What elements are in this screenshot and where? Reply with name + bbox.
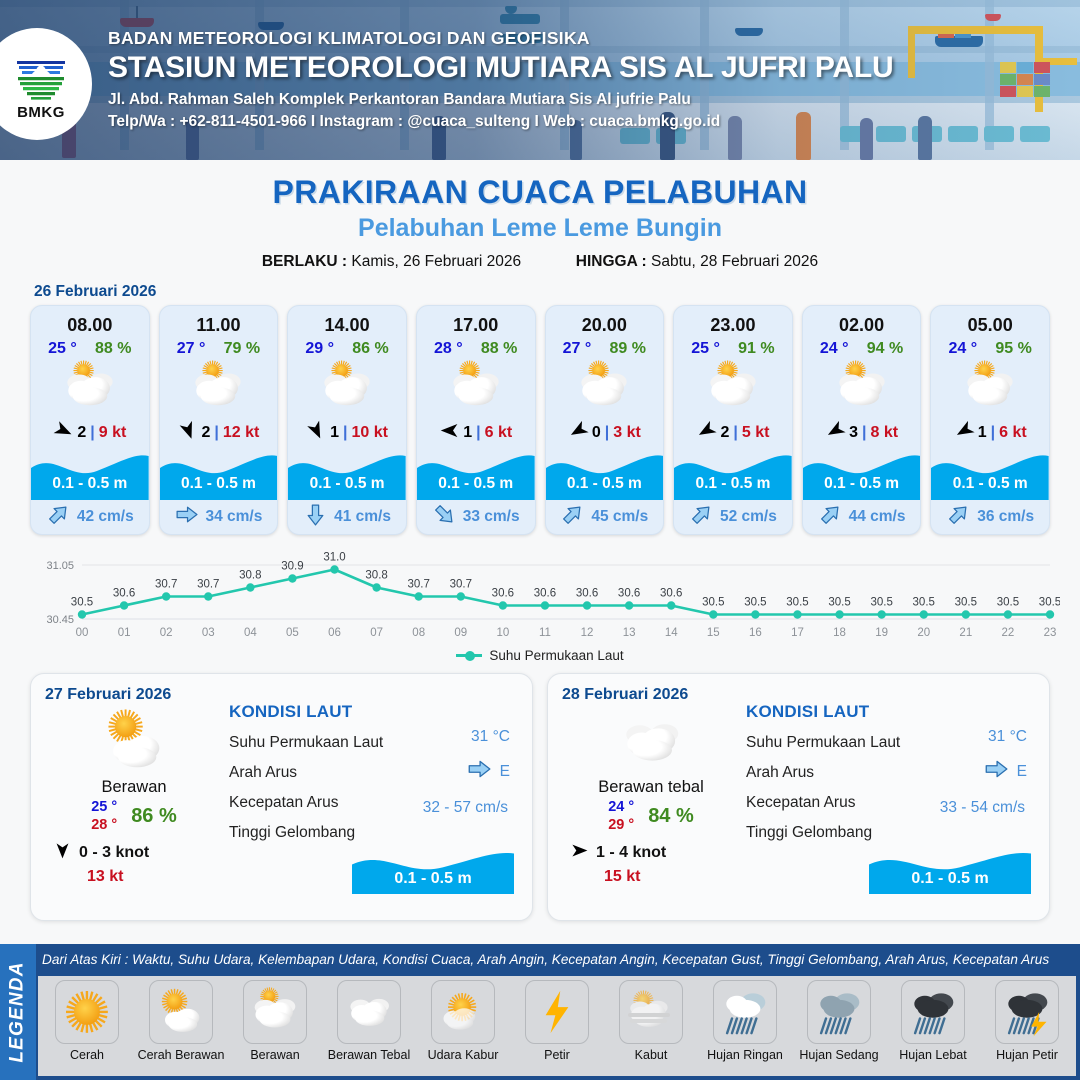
legenda-bar: LEGENDA Dari Atas Kiri : Waktu, Suhu Uda… — [0, 944, 1080, 1080]
daily-date: 27 Februari 2026 — [45, 686, 223, 704]
card-wind: 2 | 12 kt — [160, 416, 278, 450]
card-wind-speed: 9 kt — [99, 424, 127, 442]
svg-text:30.5: 30.5 — [913, 597, 935, 609]
legenda-item: Cerah Berawan — [136, 980, 226, 1062]
card-wave: 0.1 - 0.5 m — [546, 450, 664, 500]
card-wind-speed: 8 kt — [870, 424, 898, 442]
daily-left: 27 Februari 2026 Berawan 25 ° 28 ° — [45, 686, 223, 908]
card-wind-direction: 2 — [77, 424, 86, 442]
current-direction-value: E — [466, 756, 510, 787]
legenda-item: Kabut — [606, 980, 696, 1062]
card-current: 52 cm/s — [674, 500, 792, 534]
svg-text:08: 08 — [412, 627, 425, 639]
svg-text:12: 12 — [581, 627, 594, 639]
station-address: Jl. Abd. Rahman Saleh Komplek Perkantora… — [108, 91, 893, 109]
daily-condition: Berawan tebal — [562, 778, 740, 797]
cerah-berawan-icon — [149, 980, 213, 1044]
card-temp-hum: 24 ° 95 % — [931, 336, 1049, 358]
current-direction-icon — [689, 502, 714, 532]
card-wind: 2 | 5 kt — [674, 416, 792, 450]
svg-text:30.6: 30.6 — [113, 588, 135, 600]
card-current: 44 cm/s — [803, 500, 921, 534]
current-direction-value: E — [983, 756, 1027, 787]
agency-name: BADAN METEOROLOGI KLIMATOLOGI DAN GEOFIS… — [108, 28, 893, 49]
card-temperature: 24 ° — [820, 340, 849, 358]
svg-text:30.8: 30.8 — [365, 570, 387, 582]
daily-humidity: 86 % — [131, 805, 177, 828]
hourly-forecast-row: 08.00 25 ° 88 % 2 | 9 — [0, 305, 1080, 535]
card-temp-hum: 24 ° 94 % — [803, 336, 921, 358]
wind-separator: | — [214, 424, 218, 442]
svg-text:13: 13 — [623, 627, 636, 639]
card-temp-hum: 27 ° 79 % — [160, 336, 278, 358]
current-direction-icon — [560, 502, 585, 532]
sst-chart: 31.0530.4530.50030.60130.70230.70330.804… — [20, 547, 1060, 665]
legenda-item: Udara Kabur — [418, 980, 508, 1062]
svg-text:11: 11 — [539, 627, 551, 639]
legenda-item-label: Cerah — [70, 1048, 104, 1062]
bmkg-logo-text: BMKG — [17, 104, 65, 121]
card-humidity: 79 % — [224, 340, 260, 358]
svg-text:00: 00 — [76, 627, 89, 639]
svg-text:15: 15 — [707, 627, 720, 639]
wind-separator: | — [733, 424, 737, 442]
wind-separator: | — [343, 424, 347, 442]
current-direction-icon — [818, 502, 843, 532]
hourly-card: 11.00 27 ° 79 % 2 | 1 — [159, 305, 279, 535]
legenda-item: Petir — [512, 980, 602, 1062]
card-wind: 1 | 6 kt — [417, 416, 535, 450]
daily-gust: 13 kt — [45, 868, 223, 886]
wind-direction-icon — [825, 420, 846, 446]
daily-sea-conditions: KONDISI LAUT Suhu Permukaan Laut Arah Ar… — [223, 686, 518, 908]
hujan-lebat-icon — [901, 980, 965, 1044]
current-speed-value: 33 - 54 cm/s — [940, 799, 1025, 817]
card-wave-height: 0.1 - 0.5 m — [546, 475, 664, 493]
card-current-speed: 52 cm/s — [720, 508, 777, 526]
svg-text:31.0: 31.0 — [323, 552, 345, 564]
wind-direction-icon — [570, 841, 589, 865]
wind-separator: | — [90, 424, 94, 442]
svg-text:30.6: 30.6 — [576, 588, 598, 600]
card-wind-direction: 2 — [720, 424, 729, 442]
card-wind-speed: 5 kt — [742, 424, 770, 442]
daily-temps: 24 ° 29 ° — [608, 799, 634, 833]
legenda-item: Hujan Lebat — [888, 980, 978, 1062]
card-temperature: 25 ° — [691, 340, 720, 358]
card-current: 33 cm/s — [417, 500, 535, 534]
wind-direction-icon — [568, 420, 589, 446]
berawan-icon — [546, 360, 664, 416]
card-wind-direction: 1 — [978, 424, 987, 442]
daily-left: 28 Februari 2026 Berawan tebal 24 ° 29 °… — [562, 686, 740, 908]
card-wind: 0 | 3 kt — [546, 416, 664, 450]
page-subtitle: Pelabuhan Leme Leme Bungin — [0, 214, 1080, 243]
chart-legend: Suhu Permukaan Laut — [20, 648, 1060, 663]
card-time: 23.00 — [674, 306, 792, 336]
svg-text:30.5: 30.5 — [702, 597, 724, 609]
wind-direction-icon — [53, 841, 72, 865]
legenda-item-label: Petir — [544, 1048, 570, 1062]
page-title: PRAKIRAAN CUACA PELABUHAN — [0, 174, 1080, 211]
svg-text:30.6: 30.6 — [660, 588, 682, 600]
card-humidity: 94 % — [867, 340, 903, 358]
legenda-icon-strip: Cerah Cerah Berawan — [38, 976, 1076, 1076]
legenda-item: Hujan Ringan — [700, 980, 790, 1062]
berlaku-value: Kamis, 26 Februari 2026 — [351, 253, 521, 270]
card-wind-direction: 3 — [849, 424, 858, 442]
card-temperature: 28 ° — [434, 340, 463, 358]
card-wind-speed: 10 kt — [352, 424, 388, 442]
card-wind: 3 | 8 kt — [803, 416, 921, 450]
daily-forecast-card: 28 Februari 2026 Berawan tebal 24 ° 29 °… — [547, 673, 1050, 921]
card-wind-direction: 0 — [592, 424, 601, 442]
svg-text:19: 19 — [875, 627, 888, 639]
card-time: 05.00 — [931, 306, 1049, 336]
daily-temp-min: 25 ° — [91, 799, 117, 815]
wind-direction-icon — [306, 420, 327, 446]
legenda-item-label: Kabut — [635, 1048, 668, 1062]
svg-text:30.7: 30.7 — [408, 579, 430, 591]
svg-text:04: 04 — [244, 627, 257, 639]
legenda-item: Berawan Tebal — [324, 980, 414, 1062]
card-wave: 0.1 - 0.5 m — [803, 450, 921, 500]
daily-date: 28 Februari 2026 — [562, 686, 740, 704]
svg-text:30.6: 30.6 — [492, 588, 514, 600]
svg-text:30.6: 30.6 — [618, 588, 640, 600]
svg-text:30.5: 30.5 — [828, 597, 850, 609]
card-wind-speed: 12 kt — [223, 424, 259, 442]
sst-value: 31 °C — [471, 728, 510, 746]
card-wind-speed: 3 kt — [613, 424, 641, 442]
card-temp-hum: 28 ° 88 % — [417, 336, 535, 358]
wind-direction-icon — [954, 420, 975, 446]
berawan-tebal-icon — [562, 708, 740, 774]
current-direction-icon — [983, 756, 1009, 787]
daily-temp-hum: 24 ° 29 ° 84 % — [562, 799, 740, 833]
daily-temp-hum: 25 ° 28 ° 86 % — [45, 799, 223, 833]
card-current: 41 cm/s — [288, 500, 406, 534]
svg-text:30.5: 30.5 — [71, 597, 93, 609]
daily-temps: 25 ° 28 ° — [91, 799, 117, 833]
berlaku-label: BERLAKU : — [262, 253, 347, 270]
svg-text:02: 02 — [160, 627, 173, 639]
card-current-speed: 42 cm/s — [77, 508, 134, 526]
chart-legend-marker — [456, 654, 482, 657]
svg-text:30.45: 30.45 — [46, 614, 74, 626]
card-current-speed: 41 cm/s — [334, 508, 391, 526]
card-wave-height: 0.1 - 0.5 m — [674, 475, 792, 493]
card-current: 36 cm/s — [931, 500, 1049, 534]
svg-text:06: 06 — [328, 627, 341, 639]
page-header: BMKG BADAN METEOROLOGI KLIMATOLOGI DAN G… — [0, 0, 1080, 160]
legenda-item: Hujan Sedang — [794, 980, 884, 1062]
card-humidity: 95 % — [995, 340, 1031, 358]
card-temp-hum: 25 ° 88 % — [31, 336, 149, 358]
card-temp-hum: 25 ° 91 % — [674, 336, 792, 358]
svg-text:21: 21 — [959, 627, 972, 639]
hourly-card: 14.00 29 ° 86 % 1 | 1 — [287, 305, 407, 535]
daily-temp-max: 29 ° — [608, 817, 634, 833]
wind-direction-icon — [439, 420, 460, 446]
card-temp-hum: 29 ° 86 % — [288, 336, 406, 358]
hourly-card: 20.00 27 ° 89 % 0 | 3 — [545, 305, 665, 535]
wind-separator: | — [605, 424, 609, 442]
card-wave: 0.1 - 0.5 m — [931, 450, 1049, 500]
legenda-side-label: LEGENDA — [0, 944, 36, 1080]
sea-conditions-title: KONDISI LAUT — [746, 702, 1035, 722]
card-humidity: 89 % — [610, 340, 646, 358]
svg-text:23: 23 — [1044, 627, 1057, 639]
kabut-icon — [619, 980, 683, 1044]
card-wave: 0.1 - 0.5 m — [160, 450, 278, 500]
card-wave-height: 0.1 - 0.5 m — [288, 475, 406, 493]
card-wave: 0.1 - 0.5 m — [288, 450, 406, 500]
current-speed-value: 32 - 57 cm/s — [423, 799, 508, 817]
wave-height-label: Tinggi Gelombang — [746, 824, 1035, 842]
svg-text:20: 20 — [917, 627, 930, 639]
udara-kabur-icon — [431, 980, 495, 1044]
hujan-petir-icon — [995, 980, 1059, 1044]
wind-direction-icon — [696, 420, 717, 446]
sst-chart-svg: 31.0530.4530.50030.60130.70230.70330.804… — [20, 547, 1060, 647]
svg-text:30.5: 30.5 — [870, 597, 892, 609]
legenda-item-label: Berawan Tebal — [328, 1048, 410, 1062]
current-direction-icon — [303, 502, 328, 532]
berawan-icon — [417, 360, 535, 416]
daily-temp-min: 24 ° — [608, 799, 634, 815]
card-wave: 0.1 - 0.5 m — [674, 450, 792, 500]
bmkg-logo-mark — [13, 47, 69, 103]
daily-wave-value: 0.1 - 0.5 m — [352, 870, 514, 888]
svg-text:01: 01 — [118, 627, 131, 639]
svg-text:03: 03 — [202, 627, 215, 639]
svg-text:30.5: 30.5 — [955, 597, 977, 609]
legenda-item: Hujan Petir — [982, 980, 1072, 1062]
sea-conditions-title: KONDISI LAUT — [229, 702, 518, 722]
svg-text:22: 22 — [1002, 627, 1015, 639]
hourly-card: 23.00 25 ° 91 % 2 | 5 — [673, 305, 793, 535]
svg-text:30.8: 30.8 — [239, 570, 261, 582]
berawan-icon — [803, 360, 921, 416]
title-block: PRAKIRAAN CUACA PELABUHAN Pelabuhan Leme… — [0, 174, 1080, 271]
card-current: 34 cm/s — [160, 500, 278, 534]
card-time: 02.00 — [803, 306, 921, 336]
svg-text:30.5: 30.5 — [744, 597, 766, 609]
hourly-card: 08.00 25 ° 88 % 2 | 9 — [30, 305, 150, 535]
wind-separator: | — [476, 424, 480, 442]
berawan-icon — [674, 360, 792, 416]
legenda-caption: Dari Atas Kiri : Waktu, Suhu Udara, Kele… — [42, 952, 1072, 967]
cerah-berawan-icon — [45, 708, 223, 774]
card-current-speed: 36 cm/s — [977, 508, 1034, 526]
wind-separator: | — [991, 424, 995, 442]
berawan-icon — [243, 980, 307, 1044]
card-current-speed: 44 cm/s — [849, 508, 906, 526]
daily-wind: 0 - 3 knot — [45, 841, 223, 865]
card-current-speed: 34 cm/s — [205, 508, 262, 526]
wind-direction-icon — [178, 420, 199, 446]
card-wave: 0.1 - 0.5 m — [417, 450, 535, 500]
card-current-speed: 33 cm/s — [463, 508, 520, 526]
card-temperature: 24 ° — [949, 340, 978, 358]
hourly-card: 05.00 24 ° 95 % 1 | 6 — [930, 305, 1050, 535]
card-wave: 0.1 - 0.5 m — [31, 450, 149, 500]
card-temperature: 29 ° — [305, 340, 334, 358]
current-direction-icon — [46, 502, 71, 532]
card-temp-hum: 27 ° 89 % — [546, 336, 664, 358]
card-time: 14.00 — [288, 306, 406, 336]
berawan-icon — [160, 360, 278, 416]
card-wind: 1 | 10 kt — [288, 416, 406, 450]
card-time: 17.00 — [417, 306, 535, 336]
card-humidity: 88 % — [481, 340, 517, 358]
daily-wind: 1 - 4 knot — [562, 841, 740, 865]
card-wind-direction: 1 — [330, 424, 339, 442]
card-wind: 1 | 6 kt — [931, 416, 1049, 450]
daily-condition: Berawan — [45, 778, 223, 797]
hujan-sedang-icon — [807, 980, 871, 1044]
current-direction-icon — [432, 502, 457, 532]
card-wave-height: 0.1 - 0.5 m — [417, 475, 535, 493]
station-name: STASIUN METEOROLOGI MUTIARA SIS AL JUFRI… — [108, 51, 893, 85]
daily-wind-range: 0 - 3 knot — [79, 844, 149, 862]
card-wave-height: 0.1 - 0.5 m — [931, 475, 1049, 493]
svg-text:18: 18 — [833, 627, 846, 639]
svg-text:30.9: 30.9 — [281, 561, 303, 573]
svg-text:05: 05 — [286, 627, 299, 639]
hourly-card: 02.00 24 ° 94 % 3 | 8 — [802, 305, 922, 535]
station-contact: Telp/Wa : +62-811-4501-966 I Instagram :… — [108, 113, 893, 131]
legenda-item-label: Hujan Lebat — [899, 1048, 966, 1062]
card-wind-direction: 1 — [463, 424, 472, 442]
legenda-item: Berawan — [230, 980, 320, 1062]
daily-wave-value: 0.1 - 0.5 m — [869, 870, 1031, 888]
daily-gust: 15 kt — [562, 868, 740, 886]
svg-text:30.5: 30.5 — [1039, 597, 1060, 609]
berawan-icon — [31, 360, 149, 416]
card-wave-height: 0.1 - 0.5 m — [160, 475, 278, 493]
svg-text:16: 16 — [749, 627, 762, 639]
svg-text:09: 09 — [454, 627, 467, 639]
svg-text:10: 10 — [496, 627, 509, 639]
card-humidity: 88 % — [95, 340, 131, 358]
card-humidity: 86 % — [352, 340, 388, 358]
header-text-block: BADAN METEOROLOGI KLIMATOLOGI DAN GEOFIS… — [108, 28, 893, 131]
validity-row: BERLAKU : Kamis, 26 Februari 2026 HINGGA… — [0, 253, 1080, 271]
card-temperature: 27 ° — [177, 340, 206, 358]
card-wave-height: 0.1 - 0.5 m — [31, 475, 149, 493]
card-current: 45 cm/s — [546, 500, 664, 534]
svg-text:07: 07 — [370, 627, 383, 639]
hourly-card: 17.00 28 ° 88 % 1 | 6 — [416, 305, 536, 535]
daily-humidity: 84 % — [648, 805, 694, 828]
legenda-item-label: Hujan Ringan — [707, 1048, 783, 1062]
card-current-speed: 45 cm/s — [591, 508, 648, 526]
card-wind: 2 | 9 kt — [31, 416, 149, 450]
svg-text:30.5: 30.5 — [997, 597, 1019, 609]
legenda-item-label: Cerah Berawan — [138, 1048, 225, 1062]
current-direction-icon — [174, 502, 199, 532]
card-humidity: 91 % — [738, 340, 774, 358]
svg-text:17: 17 — [791, 627, 804, 639]
daily-temp-max: 28 ° — [91, 817, 117, 833]
svg-text:30.7: 30.7 — [155, 579, 177, 591]
daily-wave-badge: 0.1 - 0.5 m — [869, 848, 1031, 894]
wind-direction-icon — [53, 420, 74, 446]
svg-text:30.7: 30.7 — [197, 579, 219, 591]
chart-legend-label: Suhu Permukaan Laut — [489, 648, 623, 663]
sst-value: 31 °C — [988, 728, 1027, 746]
daily-wave-badge: 0.1 - 0.5 m — [352, 848, 514, 894]
legenda-item: Cerah — [42, 980, 132, 1062]
card-temperature: 27 ° — [563, 340, 592, 358]
current-direction-icon — [466, 756, 492, 787]
legenda-item-label: Berawan — [250, 1048, 299, 1062]
card-time: 11.00 — [160, 306, 278, 336]
svg-text:31.05: 31.05 — [46, 560, 74, 572]
daily-forecast-card: 27 Februari 2026 Berawan 25 ° 28 ° — [30, 673, 533, 921]
card-wind-direction: 2 — [202, 424, 211, 442]
card-wind-speed: 6 kt — [999, 424, 1027, 442]
current-direction-icon — [946, 502, 971, 532]
svg-text:30.6: 30.6 — [534, 588, 556, 600]
card-time: 08.00 — [31, 306, 149, 336]
legenda-item-label: Hujan Sedang — [799, 1048, 878, 1062]
daily-wind-range: 1 - 4 knot — [596, 844, 666, 862]
card-current: 42 cm/s — [31, 500, 149, 534]
wave-height-label: Tinggi Gelombang — [229, 824, 518, 842]
berawan-icon — [931, 360, 1049, 416]
card-temperature: 25 ° — [48, 340, 77, 358]
hingga-label: HINGGA : — [576, 253, 647, 270]
petir-icon — [525, 980, 589, 1044]
daily-forecast-row: 27 Februari 2026 Berawan 25 ° 28 ° — [0, 665, 1080, 921]
berawan-icon — [288, 360, 406, 416]
berawan-tebal-icon — [337, 980, 401, 1044]
cerah-icon — [55, 980, 119, 1044]
daily-sea-conditions: KONDISI LAUT Suhu Permukaan Laut Arah Ar… — [740, 686, 1035, 908]
legenda-item-label: Hujan Petir — [996, 1048, 1058, 1062]
legenda-item-label: Udara Kabur — [428, 1048, 499, 1062]
card-time: 20.00 — [546, 306, 664, 336]
card-wave-height: 0.1 - 0.5 m — [803, 475, 921, 493]
card-wind-speed: 6 kt — [485, 424, 513, 442]
svg-text:30.5: 30.5 — [786, 597, 808, 609]
hujan-ringan-icon — [713, 980, 777, 1044]
svg-text:14: 14 — [665, 627, 678, 639]
svg-text:30.7: 30.7 — [450, 579, 472, 591]
hingga-value: Sabtu, 28 Februari 2026 — [651, 253, 818, 270]
hourly-date-label: 26 Februari 2026 — [34, 283, 1080, 301]
wind-separator: | — [862, 424, 866, 442]
